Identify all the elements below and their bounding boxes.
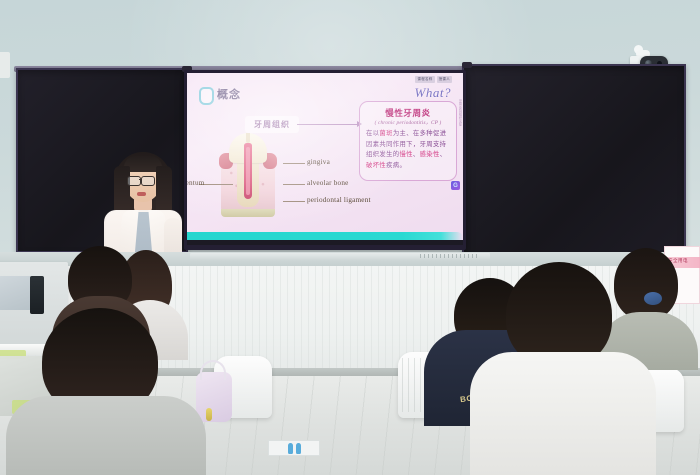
blackboard-panel-right	[462, 64, 686, 258]
highlight-infectious: 感染性	[420, 151, 440, 158]
label-gingiva: gingiva	[307, 158, 330, 166]
glasses-lens-left-icon	[127, 176, 141, 186]
badge-speaker: 授课人	[437, 76, 452, 83]
badge-course: 课程名称	[415, 76, 434, 83]
label-cementum: cementum	[187, 179, 205, 187]
connector-line	[297, 124, 359, 125]
slide-title: 概念	[217, 86, 241, 102]
highlight-destructive: 破坏性	[366, 162, 386, 169]
bag-charm	[206, 408, 212, 421]
presenter-mouth	[137, 192, 146, 196]
leader-periodontal-ligament	[283, 201, 305, 202]
slide-vertical-note: 牙周支持组织炎症	[456, 99, 462, 126]
hair-scrunchie	[644, 292, 662, 305]
leader-alveolar-bone	[283, 184, 305, 185]
presentation-screen[interactable]: 课程名称 授课人 概念 What? 牙周组织 慢性牙周炎 ( chronic p…	[187, 73, 463, 245]
student-body	[470, 352, 656, 475]
classroom-photo: 课程名称 授课人 概念 What? 牙周组织 慢性牙周炎 ( chronic p…	[0, 0, 700, 475]
footprint-right-icon	[296, 443, 301, 454]
label-alveolar-bone: alveolar bone	[307, 179, 349, 187]
slide-watermark-logo: G	[451, 181, 460, 190]
tooth-diagram	[217, 133, 279, 221]
student-body	[6, 396, 206, 475]
footprint-floor-marker	[268, 440, 320, 456]
board-hinge-right	[462, 62, 472, 68]
footprint-left-icon	[288, 443, 293, 454]
leader-gingiva	[283, 163, 305, 164]
definition-heading: 慢性牙周炎	[360, 107, 456, 119]
highlight-chronic: 慢性	[400, 151, 413, 158]
crown-fissure	[246, 133, 250, 143]
glasses-lens-right-icon	[141, 176, 155, 186]
slide-question-label: What?	[415, 85, 451, 101]
label-periodontal-ligament: periodontal ligament	[307, 196, 371, 204]
glasses-bridge-icon	[139, 179, 142, 180]
equipment-screen	[0, 276, 34, 310]
tooth-icon	[199, 87, 214, 105]
root-canal-shape	[246, 147, 250, 195]
trim-vent-dots	[420, 254, 480, 258]
equipment-dark-panel	[30, 276, 44, 314]
bag-strap	[200, 360, 226, 380]
definition-english: ( chronic periodontitis，CP )	[360, 119, 456, 126]
tissue-label: 牙周组织	[245, 116, 299, 133]
definition-body: 在以菌斑为主、在多种促进因素共同作用下，牙周支持组织发生的慢性、感染性、破坏性疾…	[366, 129, 452, 171]
definition-box: 慢性牙周炎 ( chronic periodontitis，CP ) 在以菌斑为…	[359, 101, 457, 181]
bone-base-shape	[221, 209, 275, 217]
slide-corner-badges: 课程名称 授课人	[415, 76, 452, 83]
student-head	[614, 248, 678, 320]
wall-fixture	[0, 52, 10, 78]
highlight-plaque: 菌斑	[379, 130, 392, 137]
slide-bottom-edge	[187, 240, 463, 245]
